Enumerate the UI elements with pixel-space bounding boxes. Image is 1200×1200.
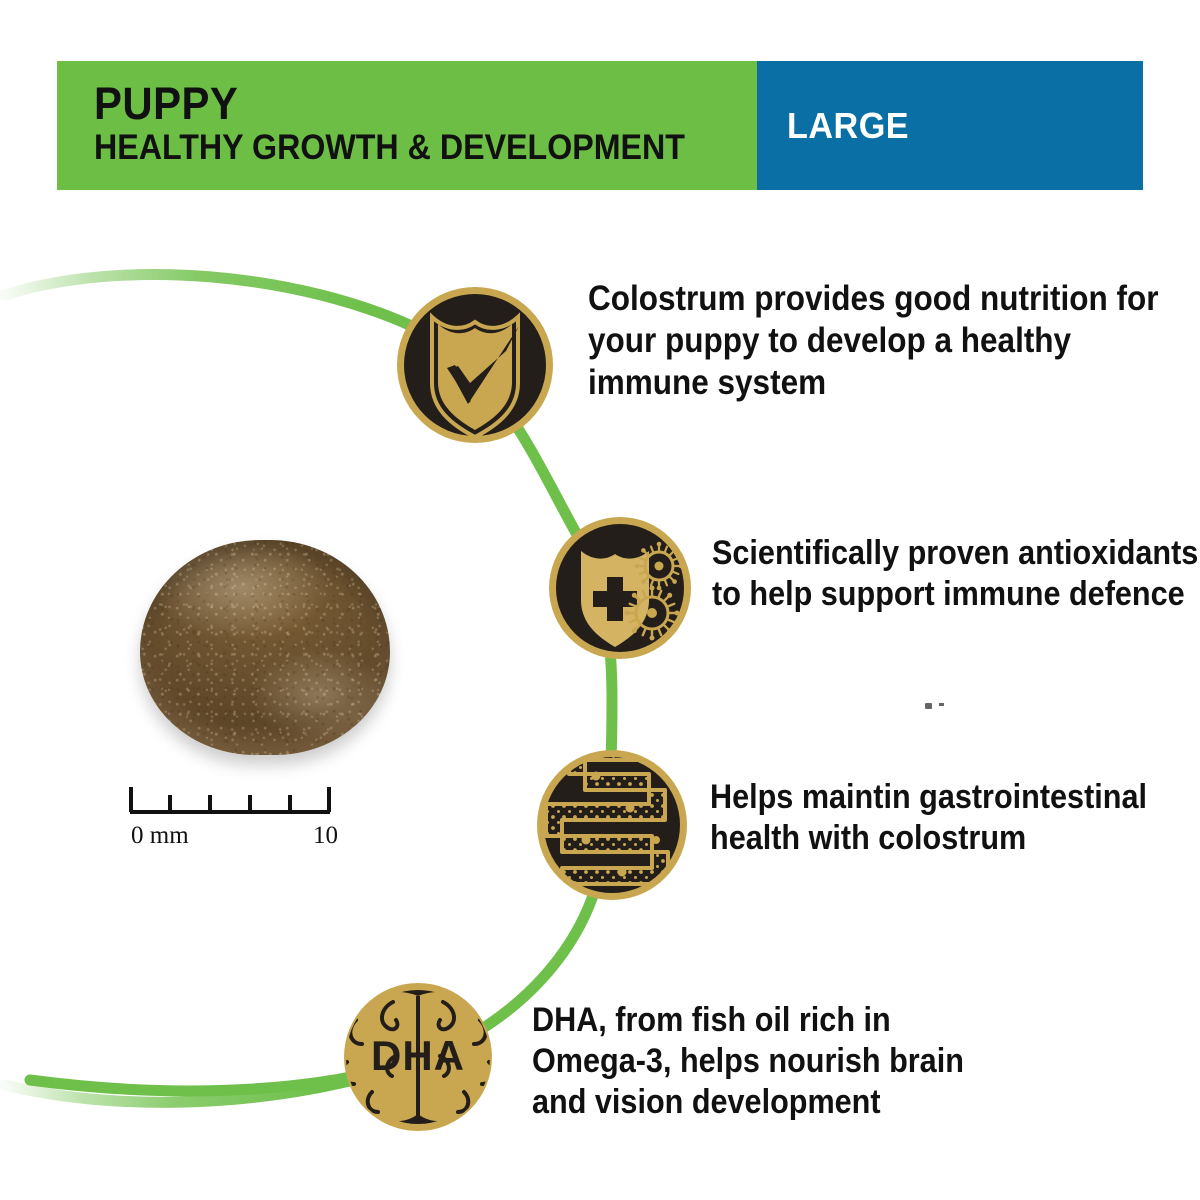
virus-particle: [635, 542, 684, 591]
page-subtitle: HEALTHY GROWTH & DEVELOPMENT: [94, 126, 704, 170]
kibble-shape: [140, 540, 390, 755]
feature-text-gastrointestinal: Helps maintin gastrointestinal health wi…: [710, 777, 1178, 859]
scale-label-left: 0 mm: [131, 822, 189, 850]
stray-speck: [925, 703, 944, 709]
dha-label: DHA: [371, 1032, 465, 1079]
feature-text-antioxidants: Scientifically proven antioxidants to he…: [712, 533, 1200, 615]
header-green-panel: PUPPY HEALTHY GROWTH & DEVELOPMENT: [57, 61, 757, 190]
page-title: PUPPY: [94, 81, 711, 126]
scale-bar: [130, 787, 330, 812]
feature-text-colostrum: Colostrum provides good nutrition for yo…: [588, 278, 1164, 404]
scale-label-right: 10: [313, 822, 338, 850]
size-badge: LARGE: [787, 105, 909, 147]
feature-text-dha: DHA, from fish oil rich in Omega-3, help…: [532, 1000, 964, 1122]
kibble-photo: [140, 540, 390, 755]
shield-cross-virus-icon: [549, 517, 691, 659]
header-blue-panel: LARGE: [757, 61, 1143, 190]
header-bar: PUPPY HEALTHY GROWTH & DEVELOPMENT LARGE: [57, 61, 1143, 190]
virus-particle: [625, 586, 680, 641]
kibble-texture: [140, 540, 390, 755]
brain-dha-icon: DHA: [332, 983, 505, 1131]
shield-check-icon: [397, 287, 553, 443]
intestine-icon: [537, 744, 687, 900]
